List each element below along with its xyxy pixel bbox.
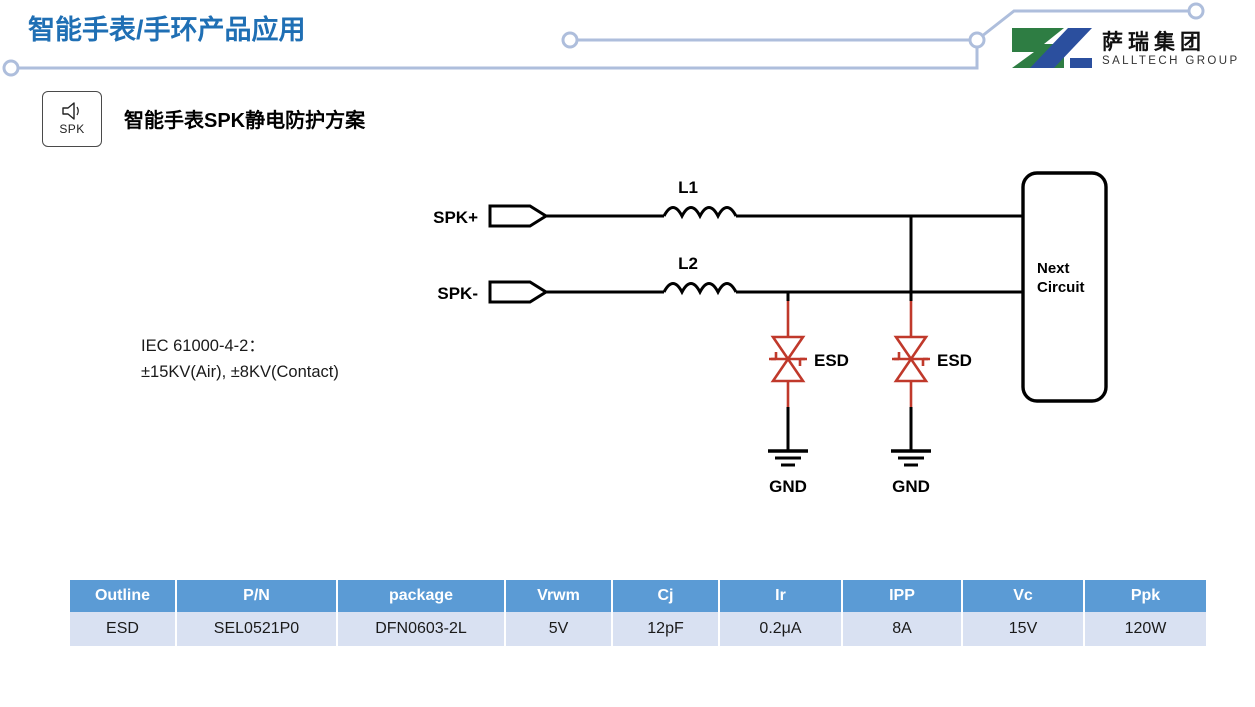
port-label-spk-plus: SPK+ [433, 208, 478, 227]
cell-ppk: 120W [1085, 612, 1206, 646]
table-col-ppk: Ppk [1085, 580, 1206, 612]
esd-branch-left: ESD GND [768, 301, 849, 496]
table-col-cj: Cj [613, 580, 718, 612]
table-col-pn: P/N [177, 580, 336, 612]
trace-node-mid-right [970, 33, 984, 47]
table-col-vc: Vc [963, 580, 1083, 612]
inductor-l1-coil [664, 208, 736, 217]
table-header-row: Outline P/N package Vrwm Cj Ir IPP Vc Pp… [70, 580, 1206, 612]
port-connector-spk-minus [490, 282, 546, 302]
table-col-outline: Outline [70, 580, 175, 612]
esd-right-label: ESD [937, 351, 972, 370]
cell-pn: SEL0521P0 [177, 612, 336, 646]
iec-note-line2: ±15KV(Air), ±8KV(Contact) [141, 359, 339, 385]
table-col-package: package [338, 580, 504, 612]
inductor-l2-label: L2 [678, 254, 698, 273]
gnd-left-label: GND [769, 477, 807, 496]
brand-wordmark: 萨瑞集团 SALLTECH GROUP [1102, 31, 1240, 69]
table-col-ir: Ir [720, 580, 841, 612]
cell-vrwm: 5V [506, 612, 611, 646]
iec-standard-note: IEC 61000-4-2： ±15KV(Air), ±8KV(Contact) [141, 333, 339, 385]
esd-protection-schematic: L1 L2 SPK+ SPK- ESD GND ESD [400, 155, 1140, 525]
cell-outline: ESD [70, 612, 175, 646]
salltech-logo-mark [1008, 24, 1094, 77]
cell-ir: 0.2μA [720, 612, 841, 646]
esd-right-diode-upper [896, 337, 926, 359]
brand-name-en: SALLTECH GROUP [1102, 55, 1240, 69]
ground-symbol-right [891, 451, 931, 465]
esd-right-diode-lower [896, 359, 926, 381]
cell-vc: 15V [963, 612, 1083, 646]
esd-left-diode-upper [773, 337, 803, 359]
cell-ipp: 8A [843, 612, 961, 646]
speaker-icon [61, 102, 83, 120]
spk-badge: SPK [42, 91, 102, 147]
inductor-l2-coil [664, 284, 736, 293]
cell-package: DFN0603-2L [338, 612, 504, 646]
section-subtitle: 智能手表SPK静电防护方案 [124, 104, 365, 133]
esd-left-diode-lower [773, 359, 803, 381]
table-row: ESD SEL0521P0 DFN0603-2L 5V 12pF 0.2μA 8… [70, 612, 1206, 646]
esd-left-label: ESD [814, 351, 849, 370]
page-title: 智能手表/手环产品应用 [28, 8, 306, 47]
ground-symbol-left [768, 451, 808, 465]
port-label-spk-minus: SPK- [437, 284, 478, 303]
port-connector-spk-plus [490, 206, 546, 226]
parameter-table: Outline P/N package Vrwm Cj Ir IPP Vc Pp… [68, 580, 1208, 646]
esd-branch-right: ESD GND [891, 301, 972, 496]
spk-badge-label: SPK [59, 122, 84, 136]
brand-name-cn: 萨瑞集团 [1102, 31, 1240, 53]
next-circuit-label-line2: Circuit [1037, 279, 1085, 296]
iec-note-line1: IEC 61000-4-2： [141, 333, 339, 359]
inductor-l1-label: L1 [678, 178, 698, 197]
cell-cj: 12pF [613, 612, 718, 646]
trace-node-left [4, 61, 18, 75]
next-circuit-label-line1: Next [1037, 260, 1070, 277]
trace-node-right [1189, 4, 1203, 18]
brand-logo: 萨瑞集团 SALLTECH GROUP [1008, 20, 1248, 80]
table-col-vrwm: Vrwm [506, 580, 611, 612]
trace-node-mid-left [563, 33, 577, 47]
gnd-right-label: GND [892, 477, 930, 496]
table-col-ipp: IPP [843, 580, 961, 612]
